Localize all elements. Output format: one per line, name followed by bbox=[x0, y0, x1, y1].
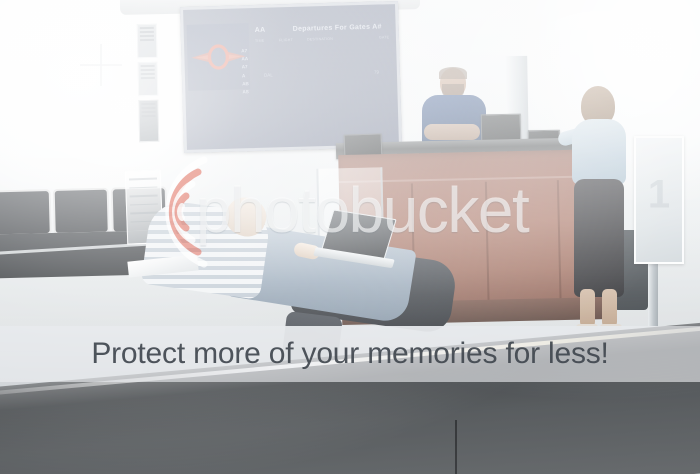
gate-sign-numeral: 1 bbox=[648, 173, 670, 218]
crosshair-mark-icon bbox=[78, 42, 124, 88]
wall-poster-strip bbox=[137, 24, 160, 146]
fids-bezel bbox=[180, 1, 402, 153]
flight-information-display-board: AA Departures For Gates A# TIME FLIGHT D… bbox=[180, 1, 402, 153]
gate-sign: 1 bbox=[634, 136, 684, 264]
customer-at-counter bbox=[568, 86, 630, 336]
photo-canvas: AA Departures For Gates A# TIME FLIGHT D… bbox=[0, 0, 700, 474]
laptop bbox=[319, 209, 402, 266]
railing-seam bbox=[455, 420, 457, 474]
